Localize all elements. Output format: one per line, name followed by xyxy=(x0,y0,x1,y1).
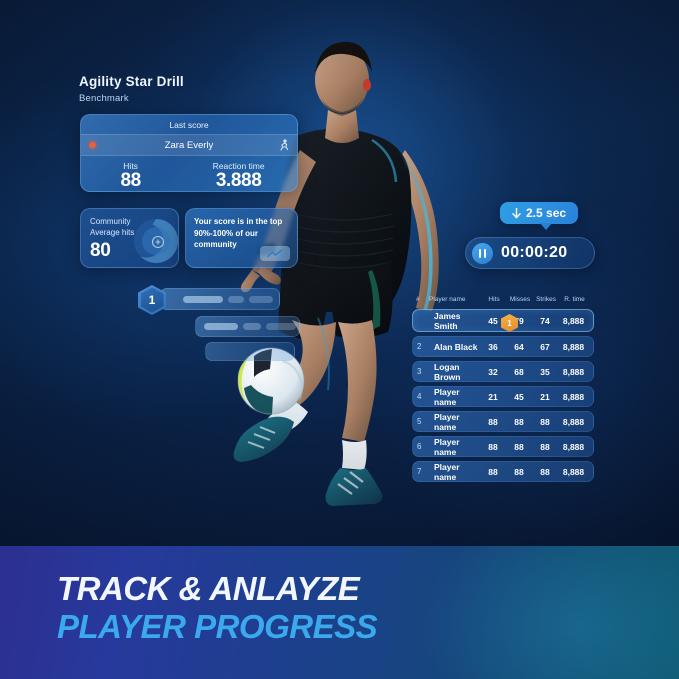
rank-hex-number: 1 xyxy=(141,288,164,313)
community-average-card: Community Average hits 80 xyxy=(80,208,179,268)
reaction-delta-badge: 2.5 sec xyxy=(500,202,578,224)
leaderboard: # Player name Hits Misses Strikes R. tim… xyxy=(412,296,594,486)
cell-name: Logan Brown xyxy=(430,362,480,382)
table-row[interactable]: 5Player name8888888,888 xyxy=(412,411,594,432)
column-misses: Misses xyxy=(507,296,533,303)
table-row[interactable]: 6Player name8888888,888 xyxy=(412,436,594,457)
cell-rtime: 8,888 xyxy=(558,467,589,477)
last-score-player-name: Zara Everly xyxy=(81,140,297,151)
page-subtitle: Benchmark xyxy=(79,93,129,104)
cell-hits: 88 xyxy=(480,417,506,427)
last-score-player-row: Zara Everly xyxy=(81,134,297,156)
table-row[interactable]: 2Alan Black3664678,888 xyxy=(412,336,594,357)
cell-misses: 64 xyxy=(506,342,532,352)
banner-line-2: PLAYER PROGRESS xyxy=(57,610,377,643)
column-strikes: Strikes xyxy=(533,296,559,303)
runner-icon xyxy=(278,139,289,151)
cell-rank: 5 xyxy=(417,417,430,426)
cell-rank: 4 xyxy=(417,392,430,401)
pause-icon[interactable] xyxy=(472,243,493,264)
cell-strikes: 67 xyxy=(532,342,558,352)
cell-strikes: 74 xyxy=(532,316,558,326)
column-hits: Hits xyxy=(481,296,507,303)
cell-rtime: 8,888 xyxy=(558,442,589,452)
timer-value: 00:00:20 xyxy=(501,244,567,262)
cell-hits: 32 xyxy=(480,367,506,377)
cell-hits: 36 xyxy=(480,342,506,352)
page-title: Agility Star Drill xyxy=(79,74,184,89)
skeleton-row-2 xyxy=(195,316,300,337)
cell-name: Player name xyxy=(430,387,480,407)
cell-rtime: 8,888 xyxy=(558,342,589,352)
promo-banner: TRACK & ANLAYZE PLAYER PROGRESS xyxy=(0,546,679,679)
leaderboard-rows: James Smith4579748,8882Alan Black3664678… xyxy=(412,309,594,482)
table-row[interactable]: 3Logan Brown3268358,888 xyxy=(412,361,594,382)
cell-rtime: 8,888 xyxy=(558,392,589,402)
arrow-down-icon xyxy=(512,208,521,219)
cell-strikes: 35 xyxy=(532,367,558,377)
last-score-card: Last score Zara Everly Hits 88 Reaction … xyxy=(80,114,298,192)
top-percent-card: Your score is in the top 90%-100% of our… xyxy=(185,208,298,268)
cell-rank: 6 xyxy=(417,442,430,451)
screenshot-root: Agility Star Drill Benchmark Last score … xyxy=(0,0,679,679)
cell-hits: 21 xyxy=(480,392,506,402)
cell-rank: 2 xyxy=(417,342,430,351)
reaction-delta-value: 2.5 sec xyxy=(526,206,566,220)
skeleton-row-3 xyxy=(205,342,295,361)
cell-rtime: 8,888 xyxy=(558,417,589,427)
timer-widget[interactable]: 00:00:20 xyxy=(465,237,595,269)
last-score-stats: Hits 88 Reaction time 3.888 xyxy=(81,156,297,191)
stat-reaction-value: 3.888 xyxy=(180,171,297,191)
cell-strikes: 21 xyxy=(532,392,558,402)
skeleton-bar xyxy=(266,323,296,330)
cell-strikes: 88 xyxy=(532,417,558,427)
pause-bar xyxy=(484,249,487,258)
cell-rank: 7 xyxy=(417,467,430,476)
target-icon xyxy=(128,213,179,268)
cell-strikes: 88 xyxy=(532,467,558,477)
community-label-line1: Community xyxy=(90,217,130,226)
table-row[interactable]: 7Player name8888888,888 xyxy=(412,461,594,482)
column-name: Player name xyxy=(429,296,481,303)
stat-hits-value: 88 xyxy=(81,171,180,191)
trend-up-icon xyxy=(260,246,290,261)
cell-name: Player name xyxy=(430,412,480,432)
status-dot-icon xyxy=(89,142,96,149)
stat-hits: Hits 88 xyxy=(81,161,180,191)
last-score-heading: Last score xyxy=(81,115,297,134)
cell-misses: 45 xyxy=(506,392,532,402)
column-rtime: R. time xyxy=(559,296,590,303)
skeleton-bar xyxy=(243,323,261,330)
community-value: 80 xyxy=(90,240,111,262)
skeleton-bar xyxy=(228,296,244,303)
cell-strikes: 88 xyxy=(532,442,558,452)
cell-rtime: 8,888 xyxy=(558,316,589,326)
cell-name: Alan Black xyxy=(430,342,480,352)
cell-name: James Smith xyxy=(430,311,480,331)
cell-hits: 88 xyxy=(480,442,506,452)
cell-rtime: 8,888 xyxy=(558,367,589,377)
cell-hits: 88 xyxy=(480,467,506,477)
cell-misses: 88 xyxy=(506,467,532,477)
skeleton-row-1 xyxy=(160,288,280,310)
cell-misses: 88 xyxy=(506,442,532,452)
banner-line-1: TRACK & ANLAYZE xyxy=(57,572,359,605)
cell-misses: 68 xyxy=(506,367,532,377)
cell-misses: 88 xyxy=(506,417,532,427)
table-row[interactable]: 4Player name2145218,888 xyxy=(412,386,594,407)
leaderboard-header: # Player name Hits Misses Strikes R. tim… xyxy=(412,296,594,309)
stat-reaction-time: Reaction time 3.888 xyxy=(180,161,297,191)
column-rank: # xyxy=(416,296,429,303)
cell-name: Player name xyxy=(430,437,480,457)
pause-bar xyxy=(479,249,482,258)
banner-glow xyxy=(419,546,679,679)
skeleton-bar xyxy=(183,296,223,303)
skeleton-bar xyxy=(249,296,273,303)
skeleton-bar xyxy=(204,323,238,330)
cell-rank: 3 xyxy=(417,367,430,376)
cell-name: Player name xyxy=(430,462,480,482)
